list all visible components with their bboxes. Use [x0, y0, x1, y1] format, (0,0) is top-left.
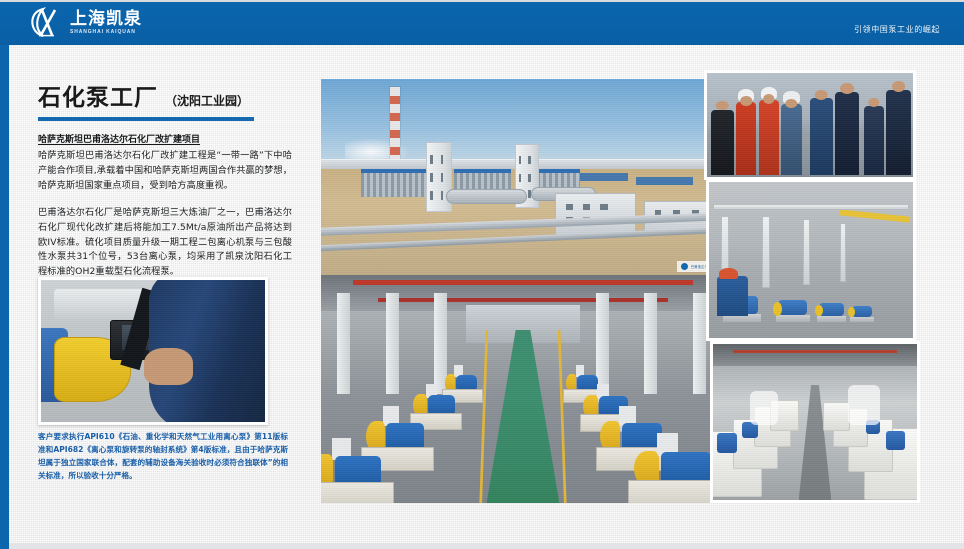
person-figure	[711, 110, 734, 174]
pump-unit	[321, 439, 394, 503]
blue-motor-shape	[717, 433, 737, 453]
photo-worker-inspection	[38, 277, 268, 425]
person-figure	[781, 104, 802, 175]
title-underline-rule	[38, 117, 254, 121]
project-standards-caption: 客户要求执行API610《石油、重化学和天然气工业用离心泵》第11版标准和API…	[38, 430, 288, 482]
hall-pillar-shape	[337, 293, 350, 393]
kaiquan-logo-icon	[30, 7, 64, 38]
horizontal-vessel-shape	[446, 189, 527, 205]
pump-unit	[819, 293, 843, 323]
pump-unit	[852, 297, 872, 322]
page-title-sub: （沈阳工业园）	[165, 92, 249, 109]
pump-unit	[778, 288, 807, 322]
person-figure-worker	[759, 100, 780, 175]
person-figure-official	[886, 90, 911, 175]
plant-building-shape	[555, 193, 636, 236]
left-accent-strip	[0, 45, 9, 549]
red-beam-shape	[733, 350, 896, 353]
text-column: 石化泵工厂 （沈阳工业园） 哈萨克斯坦巴甫洛达尔石化厂改扩建项目 哈萨克斯坦巴甫…	[38, 78, 292, 280]
paragraph-one: 哈萨克斯坦巴甫洛达尔石化厂改扩建工程是“一带一路”下中哈产能合作项目,承载着中国…	[38, 149, 292, 194]
chimney-stack-shape	[390, 87, 401, 165]
photo-refinery-plant: 巴甫洛达尔石化厂	[321, 79, 725, 275]
brand-logo[interactable]: 上海凯泉 SHANGHAI KAIQUAN	[30, 7, 142, 38]
person-figure-worker	[736, 102, 757, 175]
process-pipe-shape	[713, 204, 909, 210]
hall-pillar-shape	[644, 293, 657, 393]
process-pipe-shape	[803, 219, 810, 285]
packed-pump-unit	[823, 402, 850, 432]
header-top-line	[0, 0, 964, 2]
brand-text: 上海凯泉 SHANGHAI KAIQUAN	[70, 11, 142, 35]
hall-pillar-shape	[693, 293, 706, 393]
page-title: 石化泵工厂 （沈阳工业园）	[38, 78, 292, 112]
protective-wrap-shape	[848, 385, 881, 426]
hall-pillar-shape	[386, 293, 399, 393]
process-pipe-shape	[762, 216, 770, 288]
presentation-slide: 上海凯泉 SHANGHAI KAIQUAN 引领中国泵工业的崛起 石化泵工厂 （…	[0, 0, 964, 549]
blue-motor-shape	[886, 431, 904, 450]
header-slogan: 引领中国泵工业的崛起	[854, 24, 940, 35]
photo-pump-hall	[321, 275, 725, 503]
watermark-logo-icon	[681, 263, 688, 270]
page-title-main: 石化泵工厂	[38, 78, 158, 112]
photo-delegation-visit	[704, 70, 916, 180]
air-cooler-bank-shape	[361, 169, 426, 196]
paragraph-two: 巴甫洛达尔石化厂是哈萨克斯坦三大炼油厂之一，巴甫洛达尔石化厂现代化改扩建后将能加…	[38, 206, 292, 281]
slide-bottom-edge	[0, 543, 964, 549]
photo-collage: 巴甫洛达尔石化厂	[321, 79, 945, 503]
protective-wrap-shape	[750, 391, 779, 425]
worker-photo-scene	[41, 280, 265, 422]
worker-figure	[717, 276, 748, 317]
person-figure-official	[810, 98, 833, 175]
worker-hand-shape	[144, 348, 193, 385]
person-figure-official	[864, 106, 885, 175]
shop-roof-shape	[713, 344, 917, 366]
red-crane-beam-shape	[378, 298, 669, 302]
photo-assembly-shop	[710, 341, 920, 503]
process-pipe-shape	[840, 223, 846, 282]
brand-name-cn: 上海凯泉	[70, 11, 142, 28]
person-figure-official	[835, 92, 860, 175]
brand-name-en: SHANGHAI KAIQUAN	[70, 30, 142, 35]
project-lead-heading: 哈萨克斯坦巴甫洛达尔石化厂改扩建项目	[38, 132, 292, 145]
photo-pump-station	[706, 179, 916, 341]
page-header: 上海凯泉 SHANGHAI KAIQUAN 引领中国泵工业的崛起	[0, 0, 964, 45]
blue-tarp-shape	[636, 177, 693, 185]
safety-helmet-shape	[719, 268, 737, 279]
red-crane-beam-shape	[353, 280, 692, 286]
